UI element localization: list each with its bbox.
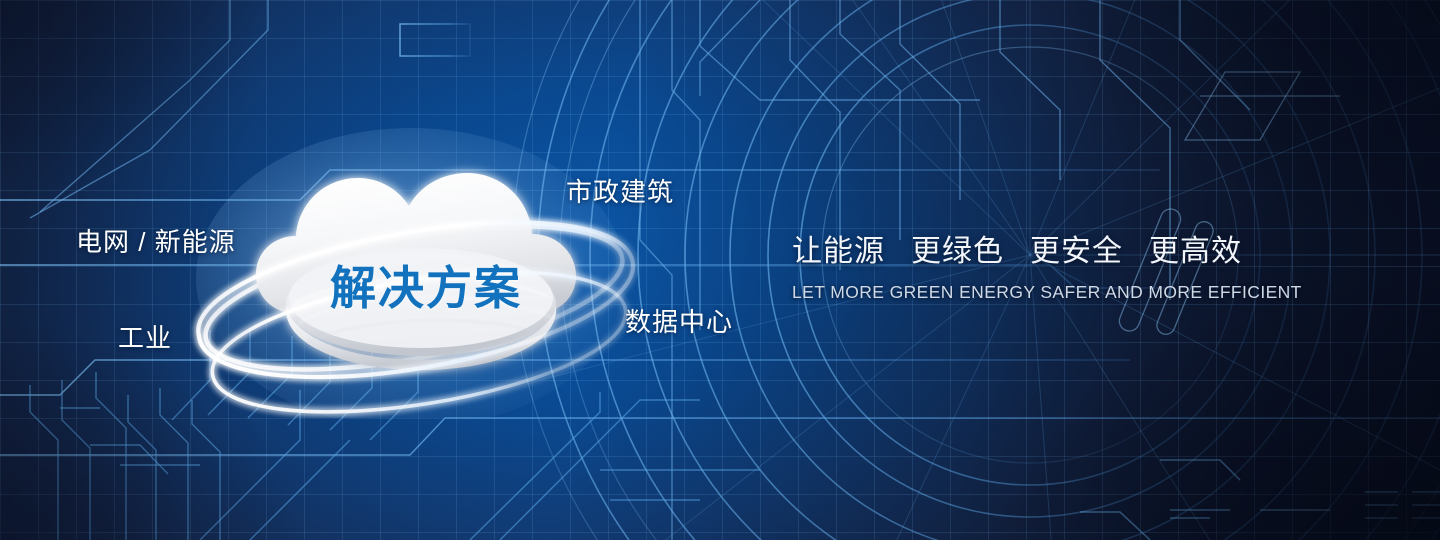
slogan-part-2: 更绿色 <box>911 235 1004 268</box>
hero-banner: 电网 / 新能源 工业 市政建筑 数据中心 解决方案 让能源更绿色更安全更高效 … <box>0 0 1440 540</box>
label-data-center: 数据中心 <box>625 302 733 339</box>
slogan-part-4: 更高效 <box>1149 235 1242 268</box>
slogan-part-1: 让能源 <box>792 235 885 268</box>
slogan-block: 让能源更绿色更安全更高效 LET MORE GREEN ENERGY SAFER… <box>792 226 1352 303</box>
cloud-title-solution: 解决方案 <box>330 252 522 318</box>
slogan-part-3: 更安全 <box>1030 235 1123 268</box>
label-grid-new-energy: 电网 / 新能源 <box>76 222 236 259</box>
slogan-english: LET MORE GREEN ENERGY SAFER AND MORE EFF… <box>792 282 1352 303</box>
slogan-chinese: 让能源更绿色更安全更高效 <box>792 226 1352 270</box>
label-civic-building: 市政建筑 <box>566 172 674 209</box>
label-industry: 工业 <box>118 318 172 355</box>
